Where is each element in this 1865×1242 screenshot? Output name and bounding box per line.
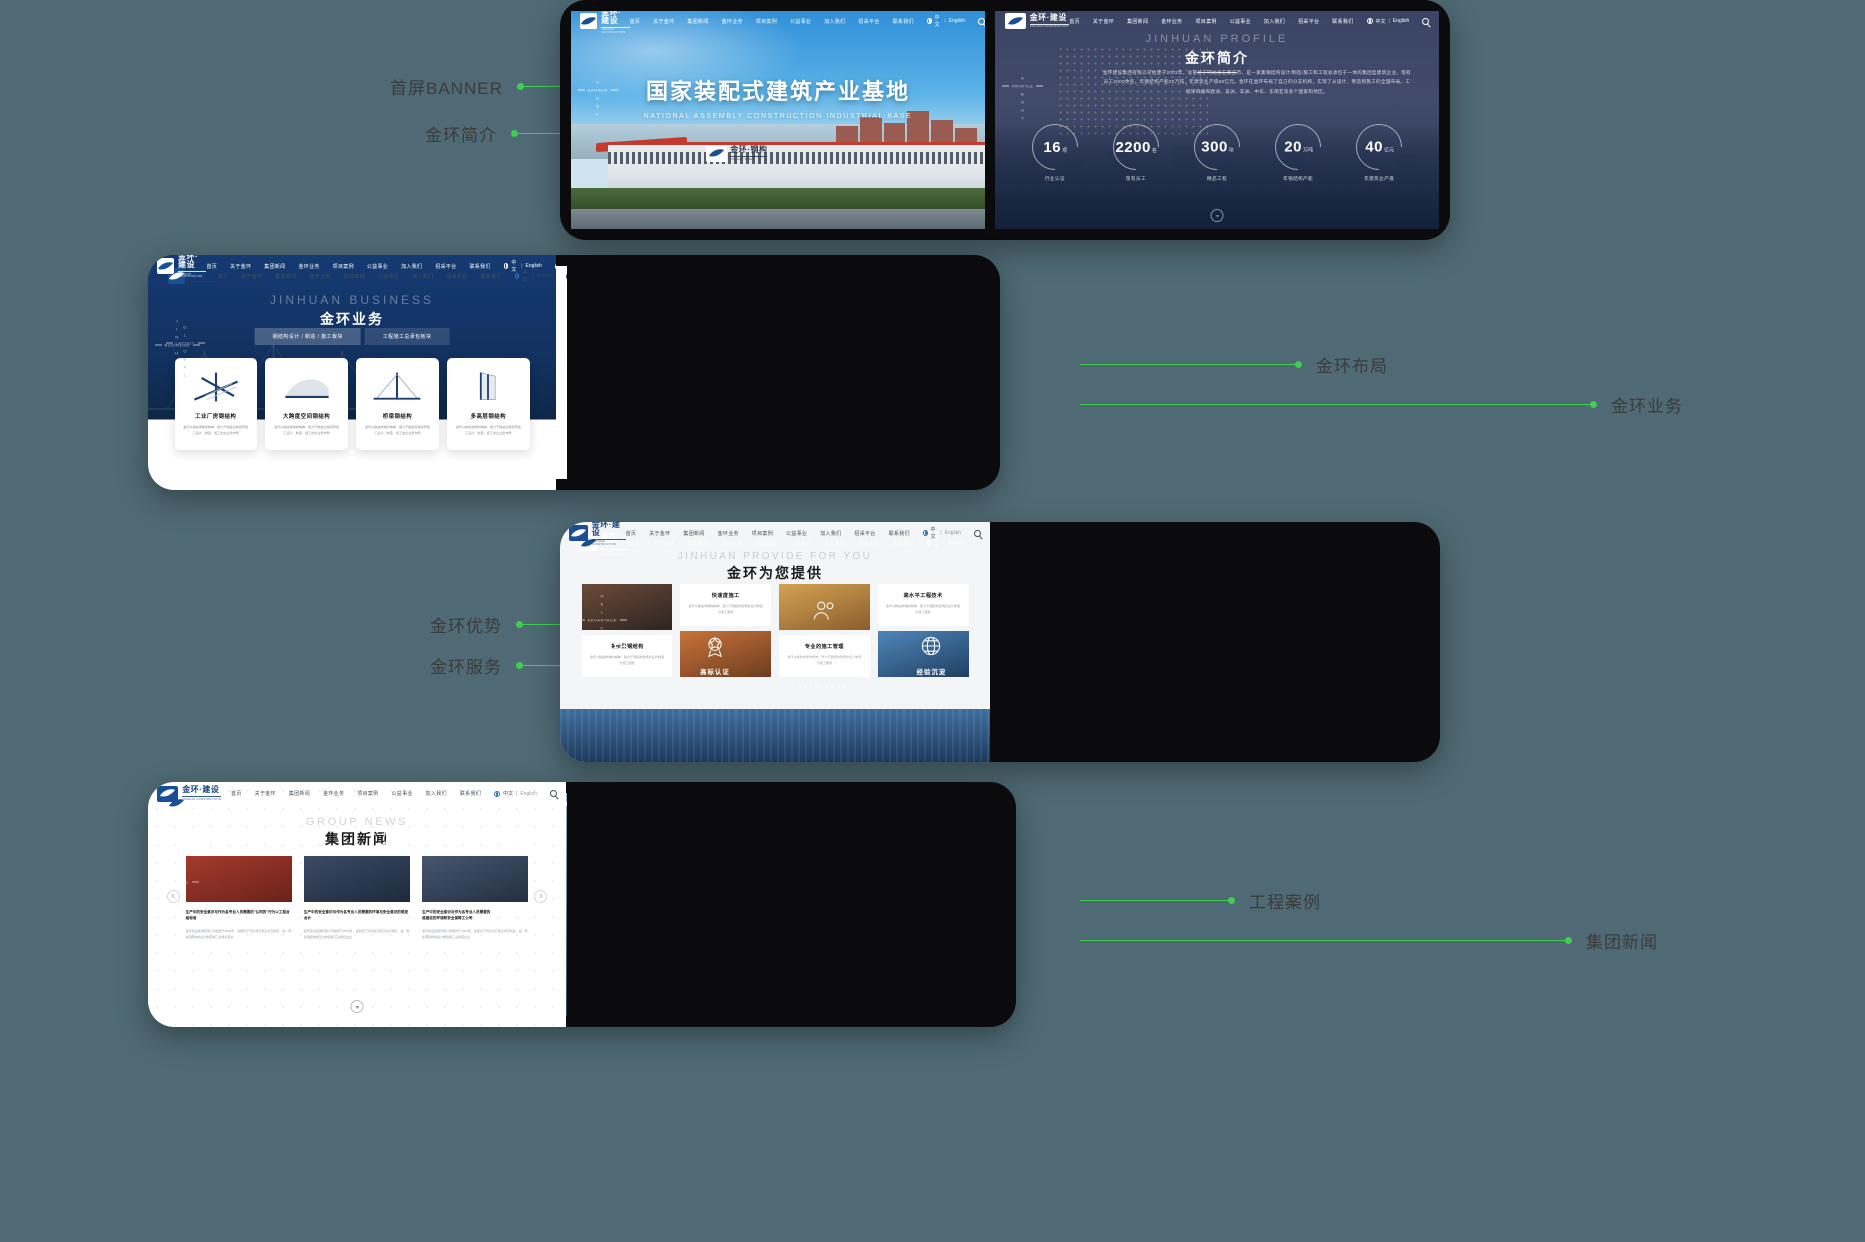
main-nav[interactable]: 首页 关于金环 集团新闻 金环业务 项目案例 公益事业 加入我们 联系我们 中文… xyxy=(231,790,557,797)
globe-icon xyxy=(927,18,932,24)
nav-item-home[interactable]: 首页 xyxy=(231,790,242,797)
logo-text: 金环·建设 JINHUAN CONSTRUCTION xyxy=(182,786,221,801)
business-card-title: 大跨度空间钢结构 xyxy=(273,412,339,420)
logo-mark-icon xyxy=(157,258,174,274)
rail-letter: U xyxy=(1021,108,1025,113)
profile-eyebrow: JINHUAN PROFILE xyxy=(995,33,1439,45)
language-switch[interactable]: 中文 | English xyxy=(504,259,542,273)
nav-item-about[interactable]: 关于金环 xyxy=(255,790,276,797)
scroll-down-button[interactable] xyxy=(351,1000,364,1013)
device-row-1: 金环·钢构 JINHUAN STEEL 金环·建设 JINHUAN CONSTR… xyxy=(560,0,1450,240)
hero-subtitle: NATIONAL ASSEMBLY CONSTRUCTION INDUSTRIA… xyxy=(571,113,985,120)
news-thumbnail xyxy=(186,856,292,902)
nav-item-welfare[interactable]: 公益事业 xyxy=(367,263,388,270)
stat-number: 300 xyxy=(1201,139,1228,156)
nav-item-home[interactable]: 首页 xyxy=(206,263,217,270)
news-thumbnail xyxy=(422,856,528,902)
provide-cell-title: 高水平工程技术 xyxy=(885,592,962,599)
stat-label: 行业认证 xyxy=(1022,176,1088,182)
annotation-line xyxy=(1080,940,1565,941)
stat-unit: 名 xyxy=(1152,147,1157,154)
provide-cell-title: 快速度施工 xyxy=(687,592,764,599)
news-eyebrow: GROUP NEWS xyxy=(148,816,566,828)
screen-banner: 金环·钢构 JINHUAN STEEL 金环·建设 JINHUAN CONSTR… xyxy=(571,11,985,229)
advantage-title: 专业人才 xyxy=(764,632,883,641)
lang-cn[interactable]: 中文 xyxy=(935,14,942,28)
lang-separator: | xyxy=(1389,18,1390,24)
search-icon[interactable] xyxy=(978,18,984,25)
logo-en: JINHUAN CONSTRUCTION xyxy=(189,281,217,289)
advantage-title: 资质完备 xyxy=(571,667,666,676)
rail-letter: N xyxy=(175,375,179,380)
rail-letter: C xyxy=(601,626,605,631)
hero-copy: 国家装配式建筑产业基地 NATIONAL ASSEMBLY CONSTRUCTI… xyxy=(571,74,985,120)
news-item[interactable]: 生产中的安全意识与作为各专业人员需要的"认同的"行为以工程合格标准 金环建设集团… xyxy=(186,856,292,941)
rail-letter: J xyxy=(176,319,179,324)
news-item[interactable]: 生产中的安全意识与作为各专业人员需要的环境与安全意识的规定合计 金环建设集团有限… xyxy=(304,856,410,941)
device-row-3: 资质完备 高标认证 xyxy=(560,522,1440,762)
annotation-news: 集团新闻 xyxy=(1080,928,1658,953)
nav-item-welfare[interactable]: 公益事业 xyxy=(391,790,412,797)
advantage-item-active: 专业人才 金环汇聚了来自制造、建筑、管理的专业人才，以及专业的、精专的管理服务团… xyxy=(764,598,883,688)
device-row-2: BRANCHES 金环·建设 JINHUAN CONSTRUCTION 首页 关… xyxy=(148,255,1000,490)
section-rail: H E L ADVANTAGE C N P xyxy=(578,594,627,647)
nav-item-welfare[interactable]: 公益事业 xyxy=(786,530,807,537)
logo-mark-icon xyxy=(580,13,597,29)
rail-current: BANNER xyxy=(578,88,618,93)
nav-item-home[interactable]: 首页 xyxy=(626,530,637,537)
logo-en: JINHUAN CONSTRUCTION xyxy=(592,539,626,547)
nav-item-business[interactable]: 金环业务 xyxy=(722,18,743,25)
rail-current: CASE xyxy=(166,880,199,885)
section-rail: J I N BUSINESS H U A N xyxy=(155,319,200,380)
nav-item-welfare[interactable]: 公益事业 xyxy=(1230,18,1251,25)
annotation-label: 金环简介 xyxy=(425,121,497,146)
annotation-line xyxy=(1080,900,1228,901)
factory-logo-cn: 金环·钢构 xyxy=(730,146,767,154)
provide-cell-desc: 金环以精益求精的精神，致力于钢结构建筑的设计制造与施工服务 xyxy=(885,604,962,616)
rail-current: PROFILE xyxy=(1002,84,1043,89)
globe-icon xyxy=(1367,18,1373,24)
site-logo[interactable]: 金环·建设 JINHUAN CONSTRUCTION xyxy=(569,522,625,546)
lang-en[interactable]: English xyxy=(1393,18,1409,24)
annotation-label: 首屏BANNER xyxy=(390,74,503,99)
business-card-desc: 金环以精益求精的精神，致力于精益全精建筑施工设计、制造、施工的全业务布局 xyxy=(183,425,249,437)
logo-mark-icon xyxy=(1005,13,1026,29)
screen-business: 金环·建设 JINHUAN CONSTRUCTION 首页 关于金环 集团新闻 … xyxy=(148,255,556,490)
stat-unit: 万吨 xyxy=(1302,147,1312,154)
site-logo[interactable]: 金环·建设 JINHUAN CONSTRUCTION xyxy=(1005,13,1069,29)
advantage-title: 经验沉淀 xyxy=(884,667,979,676)
stat-ring: 20 万吨 xyxy=(1266,115,1331,180)
annotation-dot xyxy=(511,130,518,137)
news-item-desc: 金环建设集团有限公司始建于2003年，总部位于河北省石家庄市高新区，是一家集钢结… xyxy=(304,928,410,940)
site-logo[interactable]: 金环·建设 JINHUAN CONSTRUCTION xyxy=(157,255,206,279)
annotation-dot xyxy=(1565,937,1572,944)
business-card-title: 桥梁钢结构 xyxy=(364,412,430,420)
rail-letter: B xyxy=(1021,92,1024,97)
globe-icon xyxy=(923,530,928,536)
news-item[interactable]: 生产中的安全意识与作为各专业人员需要的 能建设的环境和安全保障工公司 金环建设集… xyxy=(422,856,528,941)
nav-item-contact[interactable]: 联系我们 xyxy=(893,18,914,25)
rail-letter: E xyxy=(596,112,599,117)
lang-cn[interactable]: 中文 xyxy=(931,526,938,540)
nav-item-procure[interactable]: 招采平台 xyxy=(858,18,879,25)
logo-text: 金环·建设 JINHUAN CONSTRUCTION xyxy=(1030,14,1069,29)
site-header: 金环·建设 JINHUAN CONSTRUCTION 首页 关于金环 集团新闻 … xyxy=(148,255,556,277)
nav-item-welfare[interactable]: 公益事业 xyxy=(790,18,811,25)
annotation-dot xyxy=(517,83,524,90)
annotation-line xyxy=(1080,404,1590,405)
device-row-4: 加拿大/爱克斯康德布 尼克森剧台 工程 案例 正定体育场 用以满足石家庄体育中心… xyxy=(148,782,1016,1027)
annotation-line xyxy=(1080,364,1295,365)
globe-icon xyxy=(494,791,500,797)
site-logo[interactable]: 金环·建设 JINHUAN CONSTRUCTION xyxy=(157,786,221,802)
search-icon[interactable] xyxy=(555,263,556,270)
rail-current: BUSINESS xyxy=(155,343,200,348)
stat-label: 精品工程 xyxy=(1184,176,1250,182)
nav-item-contact[interactable]: 联系我们 xyxy=(889,530,910,537)
globe-outline-icon xyxy=(918,633,944,659)
city-band xyxy=(560,709,990,762)
read-more-link[interactable]: READ MORE xyxy=(764,684,883,689)
rail-letter: M xyxy=(596,104,600,109)
site-header: 金环·建设 JINHUAN CONSTRUCTION 首页 关于金环 集团新闻 … xyxy=(560,522,990,545)
nav-item-procure[interactable]: 招采平台 xyxy=(435,263,456,270)
nav-item-cases[interactable]: 项目案例 xyxy=(1195,18,1216,25)
section-rail: CASE xyxy=(166,880,199,885)
news-item-title: 生产中的安全意识与作为各专业人员需要的 能建设的环境和安全保障工公司 xyxy=(422,909,528,923)
lang-separator: | xyxy=(516,791,517,797)
nav-item-about[interactable]: 关于金环 xyxy=(230,263,251,270)
search-icon[interactable] xyxy=(1422,18,1429,25)
poster-canvas: 首屏BANNER 金环简介 金环·钢构 xyxy=(0,0,1865,1242)
advantage-desc: 金环汇聚了来自制造、建筑、管理的专业人才，以及专业的、精专的管理服务团队，拥有国… xyxy=(764,649,883,669)
logo-en: JINHUAN CONSTRUCTION xyxy=(1030,24,1069,29)
provide-cell-desc: 金环以精益求精的精神，致力于钢结构建筑的设计制造与施工服务 xyxy=(687,604,764,616)
logo-en: JINHUAN CONSTRUCTION xyxy=(189,809,217,817)
tab-general-contracting[interactable]: 工程施工总承包板块 xyxy=(365,328,450,345)
main-nav[interactable]: 首页 关于金环 集团新闻 金环业务 项目案例 公益事业 加入我们 招采平台 联系… xyxy=(626,526,981,540)
annotation-label: 金环业务 xyxy=(1611,392,1683,417)
rail-letter: H xyxy=(596,80,600,85)
stat-ring: 40 亿元 xyxy=(1347,115,1412,180)
business-heading: JINHUAN BUSINESS 金环业务 xyxy=(148,293,556,329)
nav-item-home[interactable]: 首页 xyxy=(1069,18,1080,25)
rail-current: ADVANTAGE xyxy=(578,618,627,623)
rail-letter: A xyxy=(1021,76,1024,81)
stat-unit: 项 xyxy=(1228,147,1233,154)
lang-cn[interactable]: 中文 xyxy=(503,790,513,797)
highrise-icon xyxy=(455,369,521,405)
logo-cn: 金环·建设 xyxy=(1030,14,1069,22)
lang-separator: | xyxy=(940,530,941,536)
stat-item: 300 项 精品工程 xyxy=(1184,124,1250,182)
annotation-label: 金环布局 xyxy=(1316,352,1388,377)
business-card[interactable]: 大跨度空间钢结构 金环以精益求精的精神，致力于精益全精建筑施工设计、制造、施工的… xyxy=(265,358,347,450)
annotation-dot xyxy=(1295,361,1302,368)
site-logo[interactable]: 金环·建设 JINHUAN CONSTRUCTION xyxy=(580,11,629,34)
rail-letter: I xyxy=(176,327,178,332)
stat-number: 16 xyxy=(1043,139,1061,156)
logo-en: JINHUAN CONSTRUCTION xyxy=(182,796,221,801)
nav-item-business[interactable]: 金环业务 xyxy=(718,530,739,537)
nav-item-procure[interactable]: 招采平台 xyxy=(1298,18,1319,25)
stat-item: 40 亿元 年建筑业产值 xyxy=(1346,124,1412,182)
logo-mark-icon xyxy=(569,525,587,541)
stat-unit: 项 xyxy=(1062,147,1067,154)
section-rail: H BANNER O M E xyxy=(578,80,618,117)
annotation-dot xyxy=(516,621,523,628)
lang-en[interactable]: English xyxy=(526,263,542,269)
nav-item-news[interactable]: 集团新闻 xyxy=(1127,18,1148,25)
site-header: 金环·建设 JINHUAN CONSTRUCTION 首页 关于金环 集团新闻 … xyxy=(995,11,1439,32)
nav-item-business[interactable]: 金环业务 xyxy=(323,790,344,797)
rail-letter: P xyxy=(601,642,604,647)
nav-item-join[interactable]: 加入我们 xyxy=(401,263,422,270)
rail-letter: L xyxy=(601,610,604,615)
stat-number: 40 xyxy=(1365,139,1383,156)
news-item-desc: 金环建设集团有限公司始建于2003年，总部位于河北省石家庄市高新区，是一家集钢结… xyxy=(422,928,528,940)
nav-item-news[interactable]: 集团新闻 xyxy=(683,530,704,537)
business-card-desc: 金环以精益求精的精神，致力于精益全精建筑施工设计、制造、施工的全业务布局 xyxy=(455,425,521,437)
factory-building: 金环·钢构 JINHUAN STEEL xyxy=(608,142,985,190)
nav-item-contact[interactable]: 联系我们 xyxy=(460,790,481,797)
logo-text: 金环·建设 JINHUAN CONSTRUCTION xyxy=(178,255,206,279)
annotation-label: 金环优势 xyxy=(430,612,502,637)
stats-row: 16 项 行业认证 2200 名 现有员工 300 项 xyxy=(1022,124,1413,182)
advantage-item: 高标认证 xyxy=(667,633,762,676)
logo-mark-icon xyxy=(706,146,727,162)
bridge-icon xyxy=(364,369,430,405)
news-next-button[interactable] xyxy=(534,890,547,903)
rail-letter: N xyxy=(601,634,605,639)
search-icon[interactable] xyxy=(566,800,567,807)
nav-item-news[interactable]: 集团新闻 xyxy=(687,18,708,25)
nav-item-news[interactable]: 集团新闻 xyxy=(264,263,285,270)
span-roof-icon xyxy=(273,369,339,405)
annotation-label: 集团新闻 xyxy=(1586,928,1658,953)
lang-separator: | xyxy=(944,18,945,24)
stat-item: 16 项 行业认证 xyxy=(1022,124,1088,182)
nav-item-join[interactable]: 加入我们 xyxy=(426,790,447,797)
lang-en[interactable]: English xyxy=(949,18,965,24)
stat-unit: 亿元 xyxy=(1383,147,1393,154)
language-switch[interactable]: 中文 | English xyxy=(494,790,537,797)
nav-item-contact[interactable]: 联系我们 xyxy=(469,263,490,270)
section-rail: A PROFILE B O U T xyxy=(1002,76,1043,121)
business-card-desc: 金环以精益求精的精神，致力于精益全精建筑施工设计、制造、施工的全业务布局 xyxy=(273,425,339,437)
factory-logo-text: 金环·钢构 JINHUAN STEEL xyxy=(730,146,767,161)
annotation-dot xyxy=(1590,401,1597,408)
nav-item-join[interactable]: 加入我们 xyxy=(1264,18,1285,25)
news-item-desc: 金环建设集团有限公司始建于2003年，总部位于河北省石家庄市高新区，是一家集钢结… xyxy=(186,928,292,940)
nav-item-join[interactable]: 加入我们 xyxy=(824,18,845,25)
lang-cn[interactable]: 中文 xyxy=(1376,18,1386,25)
nav-item-cases[interactable]: 项目案例 xyxy=(752,530,773,537)
search-icon[interactable] xyxy=(566,273,567,280)
nav-item-procure[interactable]: 招采平台 xyxy=(854,530,875,537)
business-eyebrow: JINHUAN BUSINESS xyxy=(148,293,556,307)
annotation-label: 金环服务 xyxy=(430,653,502,678)
rail-letter: E xyxy=(601,602,604,607)
annotation-cases: 工程案例 xyxy=(1080,888,1321,913)
nav-item-business[interactable]: 金环业务 xyxy=(298,263,319,270)
news-item-title: 生产中的安全意识与作为各专业人员需要的"认同的"行为以工程合格标准 xyxy=(186,909,292,923)
lang-separator: | xyxy=(521,263,522,269)
logo-en: JINHUAN CONSTRUCTION xyxy=(601,27,629,35)
logo-en: JINHUAN CONSTRUCTION xyxy=(601,549,629,557)
scroll-down-button[interactable] xyxy=(1211,209,1224,222)
annotation-dot xyxy=(1228,897,1235,904)
site-header: 金环·建设 JINHUAN CONSTRUCTION 首页 关于金环 集团新闻 … xyxy=(571,11,985,32)
logo-text: 金环·建设 JINHUAN CONSTRUCTION xyxy=(601,11,629,34)
lang-cn[interactable]: 中文 xyxy=(511,259,518,273)
logo-text: 金环·建设 JINHUAN CONSTRUCTION xyxy=(592,522,626,546)
main-nav[interactable]: 首页 关于金环 集团新闻 金环业务 项目案例 公益事业 加入我们 招采平台 联系… xyxy=(1069,18,1429,25)
logo-cn: 金环·建设 xyxy=(182,786,221,794)
business-tabs[interactable]: 钢结构设计 / 制造 / 施工板块 工程施工总承包板块 xyxy=(255,328,450,345)
nav-item-join[interactable]: 加入我们 xyxy=(820,530,841,537)
nav-item-about[interactable]: 关于金环 xyxy=(649,530,670,537)
rail-letter: O xyxy=(1021,100,1025,105)
case-title: 美国/芝加哥 苏黎世保险公司办公大楼 xyxy=(483,830,551,850)
language-switch[interactable]: 中文 | English xyxy=(1367,18,1410,25)
stat-ring: 300 项 xyxy=(1184,115,1249,180)
business-card[interactable]: 多高层钢结构 金环以精益求精的精神，致力于精益全精建筑施工设计、制造、施工的全业… xyxy=(447,358,529,450)
nav-item-news[interactable]: 集团新闻 xyxy=(289,790,310,797)
provide-title: 金环为您提供 xyxy=(560,563,990,583)
stat-number: 2200 xyxy=(1115,139,1150,156)
search-icon[interactable] xyxy=(550,790,557,797)
stat-label: 现有员工 xyxy=(1103,176,1169,182)
stat-label: 年钢结构产能 xyxy=(1265,176,1331,182)
provide-caption: 高水平工程技术 金环以精益求精的精神，致力于钢结构建筑的设计制造与施工服务 xyxy=(878,584,969,626)
stat-item: 20 万吨 年钢结构产能 xyxy=(1265,124,1331,182)
business-card-list: 工业厂房钢结构 金环以精益求精的精神，致力于精益全精建筑施工设计、制造、施工的全… xyxy=(175,358,530,450)
nav-item-business[interactable]: 金环业务 xyxy=(1161,18,1182,25)
rail-letter: U xyxy=(175,359,179,364)
stat-ring: 16 项 xyxy=(1022,115,1087,180)
business-title: 金环业务 xyxy=(148,309,556,329)
business-card-title: 工业厂房钢结构 xyxy=(183,412,249,420)
language-switch[interactable]: 中文 | English xyxy=(927,14,965,28)
main-nav[interactable]: 首页 关于金环 集团新闻 金环业务 项目案例 公益事业 加入我们 招采平台 联系… xyxy=(206,259,556,273)
factory-logo: 金环·钢构 JINHUAN STEEL xyxy=(706,146,767,162)
annotation-business: 金环业务 xyxy=(1080,392,1683,417)
rail-letter: A xyxy=(175,367,178,372)
globe-icon xyxy=(504,263,509,269)
main-nav[interactable]: 首页 关于金环 集团新闻 金环业务 项目案例 公益事业 加入我们 招采平台 联系… xyxy=(630,14,985,28)
medal-icon xyxy=(702,633,728,659)
stat-item: 2200 名 现有员工 xyxy=(1103,124,1169,182)
search-icon[interactable] xyxy=(974,530,980,537)
advantage-title: 高标认证 xyxy=(667,667,762,676)
provide-caption: 快速度施工 金环以精益求精的精神，致力于钢结构建筑的设计制造与施工服务 xyxy=(680,584,771,626)
factory-logo-en: JINHUAN STEEL xyxy=(730,156,767,161)
nav-item-cases[interactable]: 项目案例 xyxy=(333,263,354,270)
rail-letter: N xyxy=(175,335,179,340)
stat-number: 20 xyxy=(1284,139,1302,156)
logo-en: JINHUAN CONSTRUCTION xyxy=(178,271,206,279)
stat-label: 年建筑业产值 xyxy=(1346,176,1412,182)
site-header: 金环·建设 JINHUAN CONSTRUCTION 首页 关于金环 集团新闻 … xyxy=(148,782,566,805)
lang-en[interactable]: English xyxy=(520,791,536,797)
logo-mark-icon xyxy=(157,786,178,802)
nav-item-cases[interactable]: 项目案例 xyxy=(357,790,378,797)
language-switch[interactable]: 中文 | English xyxy=(923,526,961,540)
news-thumbnail xyxy=(304,856,410,902)
hero-title: 国家装配式建筑产业基地 xyxy=(571,74,985,106)
business-card-title: 多高层钢结构 xyxy=(455,412,521,420)
logo-cn: 金环·建设 xyxy=(601,11,629,25)
rail-letter: T xyxy=(1021,116,1024,121)
annotation-label: 工程案例 xyxy=(1249,888,1321,913)
lang-en[interactable]: English xyxy=(945,530,961,536)
nav-item-about[interactable]: 关于金环 xyxy=(653,18,674,25)
stat-ring: 2200 名 xyxy=(1103,115,1168,180)
nav-item-cases[interactable]: 项目案例 xyxy=(756,18,777,25)
news-list: 生产中的安全意识与作为各专业人员需要的"认同的"行为以工程合格标准 金环建设集团… xyxy=(186,856,529,941)
profile-paragraph: 金环建设集团有限公司始建于2003年，总部位于河北省石家庄市，是一家集钢结构设计… xyxy=(1102,68,1413,97)
case-title: 加拿大/爱克斯康德布 尼克森剧台 xyxy=(175,830,243,850)
tab-steel-structure[interactable]: 钢结构设计 / 制造 / 施工板块 xyxy=(255,328,361,345)
road xyxy=(571,209,985,229)
annotation-dot xyxy=(516,662,523,669)
logo-cn: 金环·建设 xyxy=(178,255,206,269)
news-prev-button[interactable] xyxy=(167,890,180,903)
rail-letter: H xyxy=(601,594,605,599)
case-title: 卡塔尔/多哈 多哈大厦 xyxy=(382,830,450,850)
rail-letter: H xyxy=(175,351,179,356)
screen-profile: 金环·建设 JINHUAN CONSTRUCTION 首页 关于金环 集团新闻 … xyxy=(995,11,1439,229)
screen-news: 金环·建设 JINHUAN CONSTRUCTION 首页 关于金环 集团新闻 … xyxy=(148,782,566,1027)
business-card-desc: 金环以精益求精的精神，致力于精益全精建筑施工设计、制造、施工的全业务布局 xyxy=(364,425,430,437)
talent-icon xyxy=(810,598,836,624)
rail-letter: O xyxy=(596,96,600,101)
news-item-title: 生产中的安全意识与作为各专业人员需要的环境与安全意识的规定合计 xyxy=(304,909,410,923)
nav-item-contact[interactable]: 联系我们 xyxy=(1332,18,1353,25)
advantage-item: 经验沉淀 xyxy=(884,633,979,676)
business-card[interactable]: 桥梁钢结构 金环以精益求精的精神，致力于精益全精建筑施工设计、制造、施工的全业务… xyxy=(356,358,438,450)
logo-cn: 金环·建设 xyxy=(592,522,626,537)
nav-item-about[interactable]: 关于金环 xyxy=(1093,18,1114,25)
annotation-layout: 金环布局 xyxy=(1080,352,1388,377)
nav-item-home[interactable]: 首页 xyxy=(630,18,641,25)
